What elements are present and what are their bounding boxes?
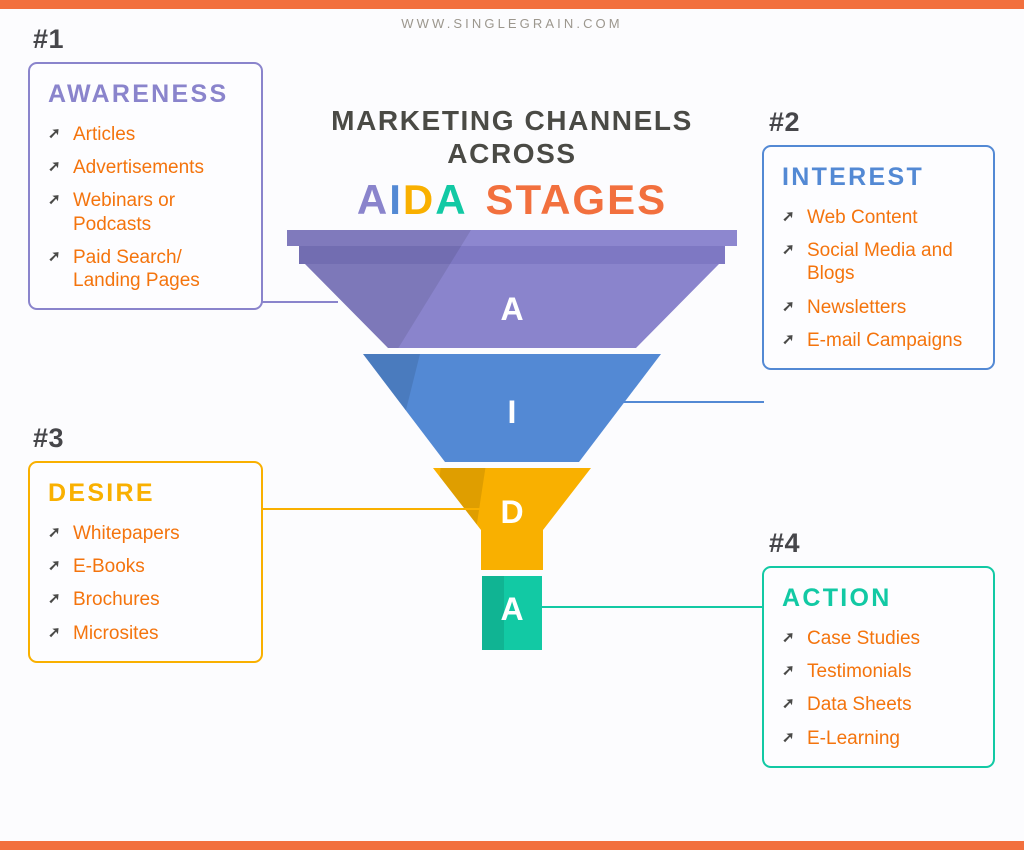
funnel-letter-d-desire: D [500, 494, 523, 530]
arrow-up-right-icon: ➚ [782, 296, 799, 318]
panel-list-action: ➚Case Studies ➚Testimonials ➚Data Sheets… [782, 627, 977, 750]
panel-list-awareness: ➚Articles ➚Advertisements ➚Webinars or P… [48, 123, 245, 292]
list-item-label: Advertisements [73, 156, 204, 179]
panel-number-action: #4 [769, 528, 800, 559]
list-item[interactable]: ➚Web Content [782, 206, 977, 229]
funnel-letter-a-awareness: A [500, 291, 523, 327]
list-item-label: Data Sheets [807, 693, 912, 716]
list-item[interactable]: ➚Case Studies [782, 627, 977, 650]
aida-letter-a1: A [357, 176, 389, 223]
arrow-up-right-icon: ➚ [782, 660, 799, 682]
aida-funnel-graphic: A I D A [281, 230, 743, 650]
aida-letter-d: D [403, 176, 435, 223]
list-item[interactable]: ➚Social Media and Blogs [782, 239, 977, 285]
connector-interest [616, 401, 764, 403]
aida-title: AIDASTAGES [312, 179, 712, 221]
arrow-up-right-icon: ➚ [48, 246, 65, 268]
arrow-up-right-icon: ➚ [48, 622, 65, 644]
panel-title-desire: DESIRE [48, 479, 245, 508]
list-item[interactable]: ➚Advertisements [48, 156, 245, 179]
list-item[interactable]: ➚Microsites [48, 622, 245, 645]
list-item[interactable]: ➚E-mail Campaigns [782, 329, 977, 352]
arrow-up-right-icon: ➚ [48, 588, 65, 610]
list-item-label: Articles [73, 123, 135, 146]
panel-title-action: ACTION [782, 584, 977, 613]
panel-title-interest: INTEREST [782, 163, 977, 192]
list-item-label: Social Media and Blogs [807, 239, 977, 285]
list-item[interactable]: ➚Whitepapers [48, 522, 245, 545]
list-item[interactable]: ➚E-Books [48, 555, 245, 578]
funnel-letter-a-action: A [500, 591, 523, 627]
list-item-label: Paid Search/ Landing Pages [73, 246, 245, 292]
list-item[interactable]: ➚Data Sheets [782, 693, 977, 716]
list-item[interactable]: ➚Paid Search/ Landing Pages [48, 246, 245, 292]
arrow-up-right-icon: ➚ [48, 522, 65, 544]
arrow-up-right-icon: ➚ [782, 206, 799, 228]
arrow-up-right-icon: ➚ [48, 156, 65, 178]
list-item[interactable]: ➚Articles [48, 123, 245, 146]
list-item-label: Newsletters [807, 296, 906, 319]
panel-list-desire: ➚Whitepapers ➚E-Books ➚Brochures ➚Micros… [48, 522, 245, 645]
list-item-label: Microsites [73, 622, 159, 645]
title-line-1: MARKETING CHANNELS [312, 104, 712, 137]
panel-title-awareness: AWARENESS [48, 80, 245, 109]
list-item[interactable]: ➚Newsletters [782, 296, 977, 319]
connector-awareness [262, 301, 338, 303]
list-item-label: Web Content [807, 206, 918, 229]
list-item[interactable]: ➚Webinars or Podcasts [48, 189, 245, 235]
top-accent-bar [0, 0, 1024, 9]
aida-word-stages: STAGES [486, 176, 668, 223]
panel-desire[interactable]: DESIRE ➚Whitepapers ➚E-Books ➚Brochures … [28, 461, 263, 663]
panel-list-interest: ➚Web Content ➚Social Media and Blogs ➚Ne… [782, 206, 977, 352]
list-item-label: Testimonials [807, 660, 912, 683]
list-item-label: Case Studies [807, 627, 920, 650]
list-item-label: Webinars or Podcasts [73, 189, 245, 235]
arrow-up-right-icon: ➚ [782, 329, 799, 351]
list-item-label: Brochures [73, 588, 160, 611]
funnel-letter-i-interest: I [508, 394, 517, 430]
list-item-label: E-Books [73, 555, 145, 578]
arrow-up-right-icon: ➚ [48, 189, 65, 211]
arrow-up-right-icon: ➚ [48, 123, 65, 145]
page-title: MARKETING CHANNELS ACROSS AIDASTAGES [312, 104, 712, 221]
connector-action [534, 606, 764, 608]
arrow-up-right-icon: ➚ [782, 239, 799, 261]
panel-number-awareness: #1 [33, 24, 64, 55]
arrow-up-right-icon: ➚ [782, 693, 799, 715]
arrow-up-right-icon: ➚ [782, 727, 799, 749]
aida-letter-a2: A [435, 176, 467, 223]
list-item[interactable]: ➚Brochures [48, 588, 245, 611]
site-url: WWW.SINGLEGRAIN.COM [0, 16, 1024, 31]
arrow-up-right-icon: ➚ [782, 627, 799, 649]
panel-number-desire: #3 [33, 423, 64, 454]
bottom-accent-bar [0, 841, 1024, 850]
connector-desire [262, 508, 487, 510]
arrow-up-right-icon: ➚ [48, 555, 65, 577]
aida-letter-i: I [389, 176, 403, 223]
list-item[interactable]: ➚Testimonials [782, 660, 977, 683]
panel-action[interactable]: ACTION ➚Case Studies ➚Testimonials ➚Data… [762, 566, 995, 768]
panel-interest[interactable]: INTEREST ➚Web Content ➚Social Media and … [762, 145, 995, 370]
list-item[interactable]: ➚E-Learning [782, 727, 977, 750]
panel-number-interest: #2 [769, 107, 800, 138]
list-item-label: E-Learning [807, 727, 900, 750]
list-item-label: E-mail Campaigns [807, 329, 962, 352]
title-line-2: ACROSS [312, 137, 712, 170]
list-item-label: Whitepapers [73, 522, 180, 545]
panel-awareness[interactable]: AWARENESS ➚Articles ➚Advertisements ➚Web… [28, 62, 263, 310]
